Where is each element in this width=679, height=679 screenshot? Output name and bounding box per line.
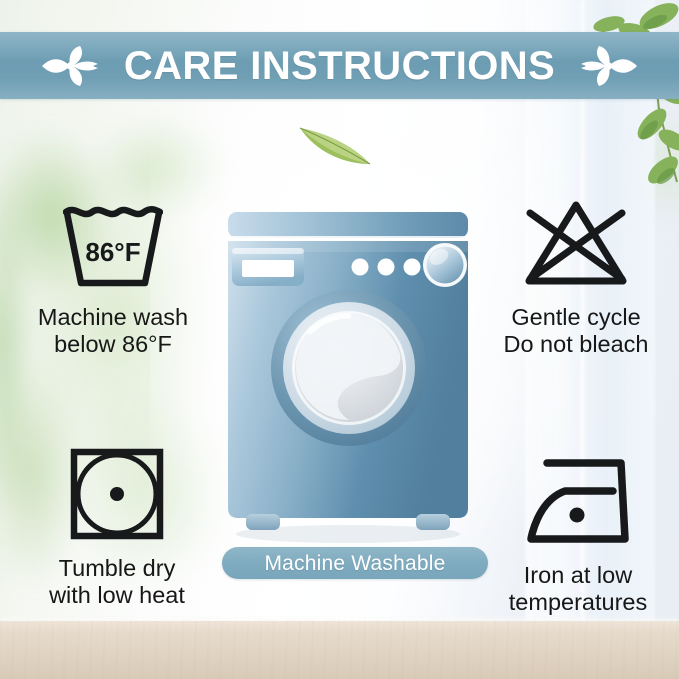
care-item-tumble-dry-low: Tumble dry with low heat — [22, 448, 212, 610]
wood-grain-texture — [0, 621, 679, 679]
care-item-machine-wash: 86°F Machine wash below 86°F — [18, 203, 208, 359]
do-not-bleach-triangle-icon — [522, 199, 630, 294]
control-indicator-dots — [352, 259, 421, 276]
care-item-caption: Iron at low temperatures — [509, 562, 647, 617]
floating-leaf-icon — [296, 118, 376, 173]
care-item-caption: Gentle cycle Do not bleach — [503, 304, 648, 359]
page-title: CARE INSTRUCTIONS — [124, 46, 555, 86]
wooden-table-surface — [0, 621, 679, 679]
tumble-dry-low-heat-icon — [69, 448, 165, 545]
machine-washable-badge: Machine Washable — [222, 547, 488, 579]
fleur-de-lis-ornament-right-icon — [573, 44, 639, 88]
washing-machine-illustration — [218, 208, 478, 548]
care-item-gentle-cycle-no-bleach: Gentle cycle Do not bleach — [478, 199, 674, 359]
care-instructions-graphic: CARE INSTRUCTIONS 86°F — [0, 0, 679, 679]
care-item-caption: Tumble dry with low heat — [49, 555, 185, 610]
wash-tub-icon: 86°F — [63, 203, 163, 294]
washer-door — [271, 290, 427, 446]
iron-low-temperature-icon — [525, 455, 631, 552]
plant-decoration — [539, 0, 679, 200]
fleur-de-lis-ornament-left-icon — [40, 44, 106, 88]
header-banner: CARE INSTRUCTIONS — [0, 32, 679, 99]
badge-label: Machine Washable — [264, 553, 445, 574]
dial-knob — [423, 243, 467, 287]
care-item-caption: Machine wash below 86°F — [38, 304, 188, 359]
care-item-iron-low-temp: Iron at low temperatures — [480, 455, 676, 617]
wash-temperature-value: 86°F — [85, 237, 140, 267]
